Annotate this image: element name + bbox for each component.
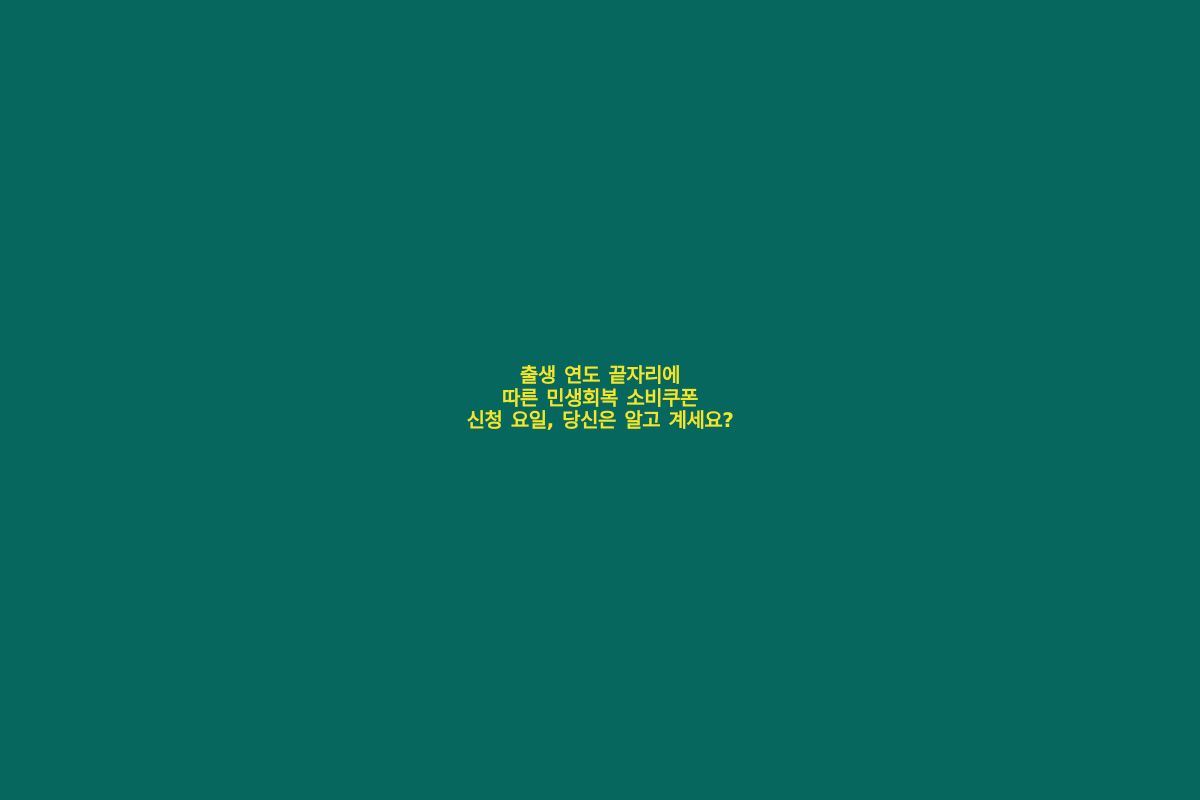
headline-line-1: 출생 연도 끝자리에 (0, 364, 1200, 386)
banner-canvas: 출생 연도 끝자리에 따른 민생회복 소비쿠폰 신청 요일, 당신은 알고 계세… (0, 0, 1200, 800)
headline-text-block: 출생 연도 끝자리에 따른 민생회복 소비쿠폰 신청 요일, 당신은 알고 계세… (0, 364, 1200, 431)
headline-line-3: 신청 요일, 당신은 알고 계세요? (0, 409, 1200, 431)
headline-line-2: 따른 민생회복 소비쿠폰 (0, 387, 1200, 409)
